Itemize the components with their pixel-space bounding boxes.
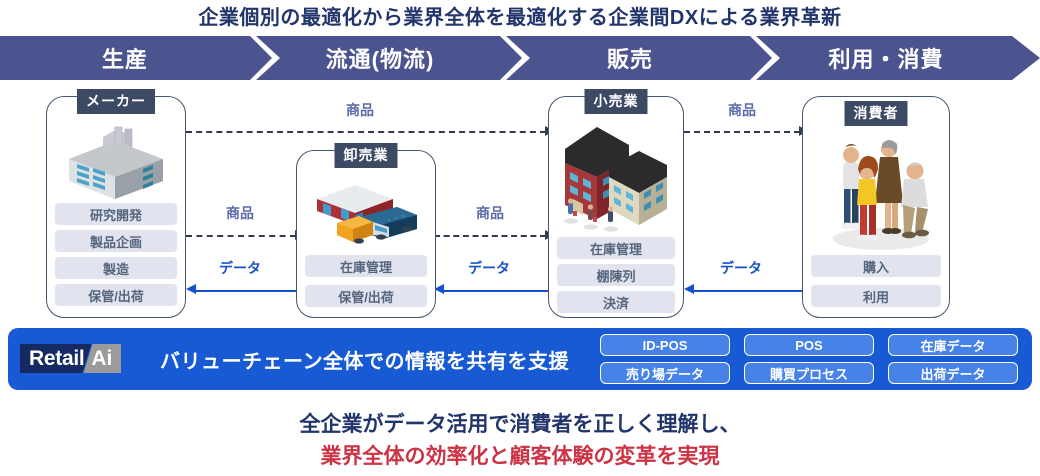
store-buildings-icon <box>549 115 683 233</box>
flow-label-goods-top-right: 商品 <box>682 100 802 120</box>
support-bar-message: バリューチェーン全体での情報を共有を支援 <box>160 344 569 374</box>
goods-arrow-maker-wholesale-line <box>186 235 296 237</box>
card-wholesale[interactable]: 卸売業 在庫管理 保管/出荷 <box>296 150 436 318</box>
goods-arrow-wholesale-retail-line <box>434 235 546 237</box>
goods-arrow-retail-consumer-line <box>684 131 800 133</box>
data-tag-shipping[interactable]: 出荷データ <box>888 362 1018 384</box>
people-icon <box>803 127 949 255</box>
card-consumer-item-1[interactable]: 利用 <box>811 285 941 307</box>
card-consumer-item-0[interactable]: 購入 <box>811 255 941 277</box>
retail-ai-logo: Retail Ai <box>20 344 121 373</box>
flow-label-goods-mid-right: 商品 <box>432 203 548 223</box>
footer-line-1: 全企業がデータ活用で消費者を正しく理解し、 <box>0 408 1040 438</box>
card-wholesale-item-0[interactable]: 在庫管理 <box>305 255 427 277</box>
goods-arrow-maker-retail-line <box>186 131 546 133</box>
flow-label-goods-mid-left: 商品 <box>182 203 298 223</box>
page-title: 企業個別の最適化から業界全体を最適化する企業間DXによる業界革新 <box>0 0 1040 30</box>
card-wholesale-item-1[interactable]: 保管/出荷 <box>305 285 427 307</box>
card-maker-item-2[interactable]: 製造 <box>55 257 177 279</box>
card-consumer[interactable]: 消費者 <box>802 96 950 318</box>
data-tag-purchase-proc[interactable]: 購買プロセス <box>744 362 874 384</box>
data-tag-salesfloor[interactable]: 売り場データ <box>600 362 730 384</box>
data-arrow-consumer-retail-line <box>693 290 803 292</box>
card-retail-item-0[interactable]: 在庫管理 <box>557 237 675 259</box>
footer-line-2: 業界全体の効率化と顧客体験の変革を実現 <box>0 440 1040 470</box>
stage-label-sales: 販売 <box>510 36 750 80</box>
data-tag-id-pos[interactable]: ID-POS <box>600 334 730 356</box>
card-maker-item-1[interactable]: 製品企画 <box>55 230 177 252</box>
card-retail-item-2[interactable]: 決済 <box>557 291 675 313</box>
flow-label-data-3: データ <box>682 258 800 278</box>
card-retail-badge: 小売業 <box>585 89 648 114</box>
factory-icon <box>47 119 185 201</box>
card-maker-item-0[interactable]: 研究開発 <box>55 203 177 225</box>
card-retail-item-1[interactable]: 棚陳列 <box>557 264 675 286</box>
card-maker-item-3[interactable]: 保管/出荷 <box>55 284 177 306</box>
data-tag-inventory[interactable]: 在庫データ <box>888 334 1018 356</box>
flow-label-goods-top-left: 商品 <box>300 100 420 120</box>
card-wholesale-badge: 卸売業 <box>335 143 398 168</box>
warehouse-truck-icon <box>297 175 435 249</box>
data-arrow-wholesale-maker-line <box>195 290 298 292</box>
data-arrow-wholesale-maker-head <box>186 284 196 294</box>
card-maker[interactable]: メーカー 研究開発 製品企画 製造 保管/出荷 <box>46 96 186 318</box>
card-retail[interactable]: 小売業 <box>548 96 684 318</box>
card-consumer-badge: 消費者 <box>845 101 908 126</box>
data-arrow-retail-wholesale-line <box>443 290 548 292</box>
data-arrow-consumer-retail-head <box>684 284 694 294</box>
flow-label-data-1: データ <box>182 258 298 278</box>
card-maker-badge: メーカー <box>77 89 155 114</box>
flow-label-data-2: データ <box>430 258 548 278</box>
support-bar: Retail Ai バリューチェーン全体での情報を共有を支援 ID-POS PO… <box>8 328 1032 390</box>
stage-banner: 生産 流通(物流) 販売 利用・消費 <box>0 36 1040 80</box>
data-tag-pos[interactable]: POS <box>744 334 874 356</box>
stage-label-distribution: 流通(物流) <box>260 36 500 80</box>
stage-label-production: 生産 <box>0 36 250 80</box>
logo-retail-text: Retail <box>20 344 91 373</box>
stage-label-consumption: 利用・消費 <box>760 36 1012 80</box>
